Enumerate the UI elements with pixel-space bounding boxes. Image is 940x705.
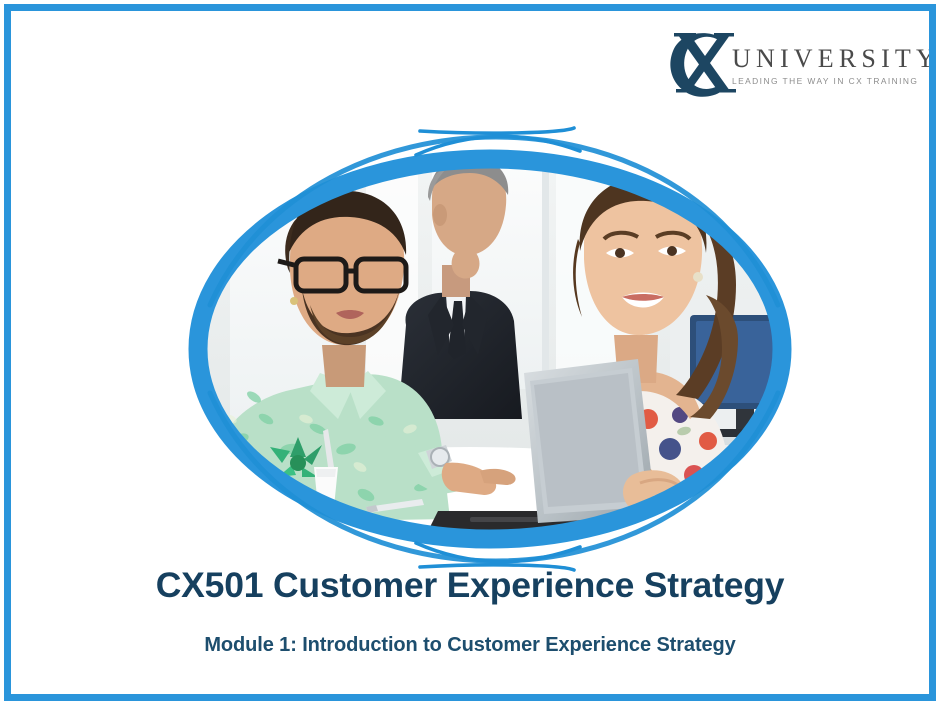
slide-canvas: UNIVERSITY LEADING THE WAY IN CX TRAININ…	[11, 11, 929, 694]
hero-photo	[170, 119, 810, 579]
brand-logo: UNIVERSITY LEADING THE WAY IN CX TRAININ…	[664, 23, 909, 101]
hero-image-block	[170, 119, 810, 579]
brand-wordmark-group: UNIVERSITY LEADING THE WAY IN CX TRAININ…	[732, 38, 929, 85]
brand-tagline: LEADING THE WAY IN CX TRAINING	[732, 77, 929, 85]
hero-oval-graphic	[170, 119, 810, 579]
brand-wordmark: UNIVERSITY	[732, 46, 929, 72]
title-block: CX501 Customer Experience Strategy Modul…	[11, 566, 929, 656]
page-title: CX501 Customer Experience Strategy	[11, 566, 929, 605]
cx-monogram-icon	[664, 25, 736, 99]
title-slide: UNIVERSITY LEADING THE WAY IN CX TRAININ…	[0, 0, 940, 705]
page-subtitle: Module 1: Introduction to Customer Exper…	[11, 605, 929, 656]
